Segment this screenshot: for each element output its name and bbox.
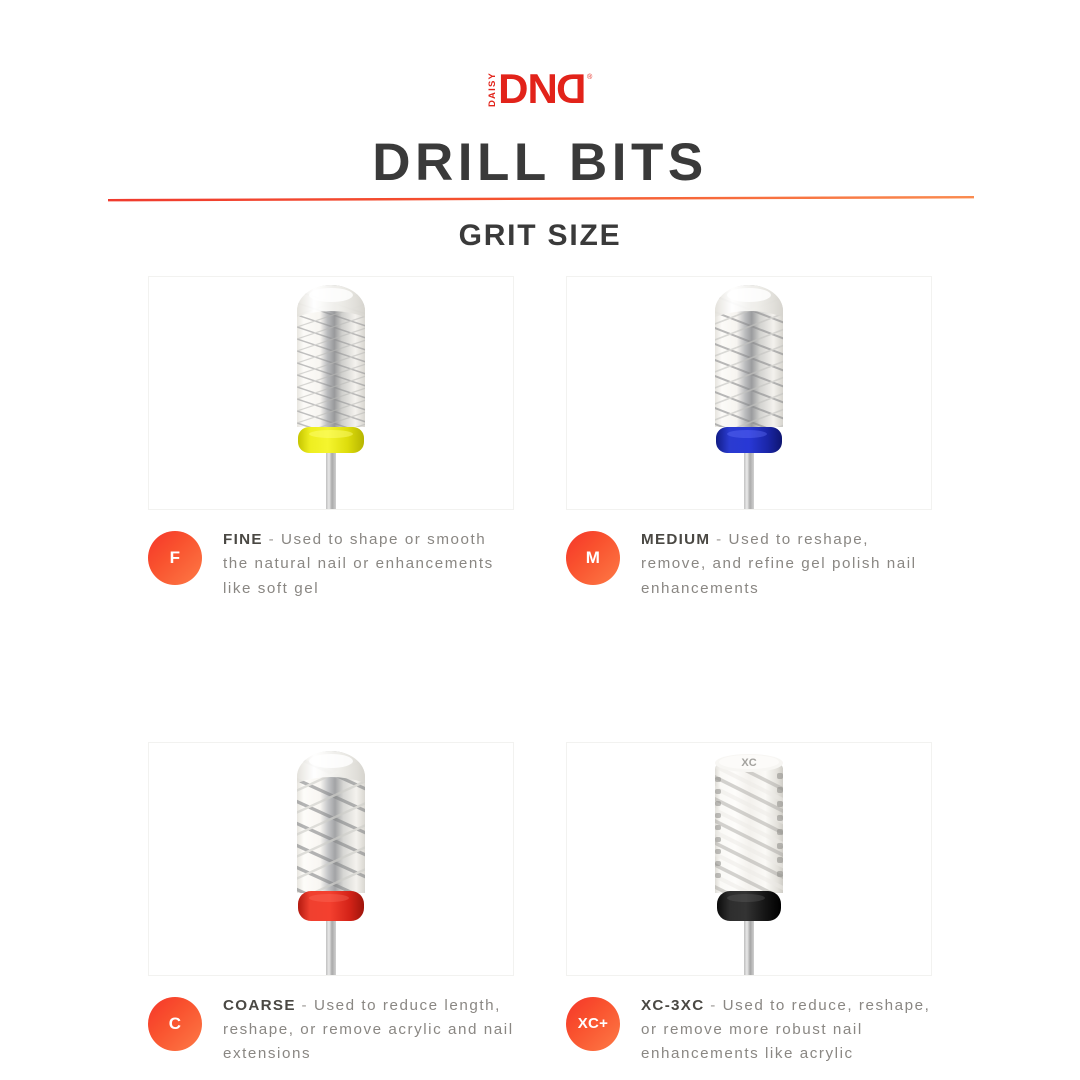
card-coarse: C COARSE - Used to reduce length, reshap… bbox=[148, 742, 514, 1067]
badge-coarse: C bbox=[148, 997, 202, 1051]
gradient-divider bbox=[108, 196, 974, 203]
coarse-drill-bit-illustration bbox=[271, 743, 391, 976]
description-fine: FINE - Used to shape or smooth the natur… bbox=[223, 528, 514, 601]
coarse-drill-bit-photo bbox=[148, 742, 514, 976]
separator-medium: - bbox=[710, 531, 728, 548]
badge-xc: XC+ bbox=[566, 997, 620, 1051]
separator-xc: - bbox=[705, 997, 723, 1014]
label-coarse: COARSE bbox=[223, 997, 296, 1014]
separator-coarse: - bbox=[296, 997, 314, 1014]
infographic-page: DAISY D N D ® DRILL BITS GRIT SIZE bbox=[0, 0, 1080, 1080]
card-medium: M MEDIUM - Used to reshape, remove, and … bbox=[566, 276, 932, 601]
description-coarse: COARSE - Used to reduce length, reshape,… bbox=[223, 994, 514, 1067]
logo-daisy-text: DAISY bbox=[488, 72, 498, 106]
xc-drill-bit-photo: XC bbox=[566, 742, 932, 976]
registered-trademark-icon: ® bbox=[587, 74, 592, 81]
section-subtitle: GRIT SIZE bbox=[0, 218, 1080, 254]
label-xc: XC-3XC bbox=[641, 997, 705, 1014]
logo-letter-d2: D bbox=[557, 72, 586, 106]
brand-logo: DAISY D N D ® bbox=[0, 66, 1080, 106]
logo-letter-d1: D bbox=[498, 72, 527, 106]
label-medium: MEDIUM bbox=[641, 531, 710, 548]
xc-top-label: XC bbox=[741, 757, 756, 769]
fine-drill-bit-photo bbox=[148, 276, 514, 510]
description-xc: XC-3XC - Used to reduce, reshape, or rem… bbox=[641, 994, 932, 1067]
card-fine: F FINE - Used to shape or smooth the nat… bbox=[148, 276, 514, 601]
page-title: DRILL BITS bbox=[0, 136, 1080, 189]
separator-fine: - bbox=[263, 531, 281, 548]
caption-medium: M MEDIUM - Used to reshape, remove, and … bbox=[566, 528, 932, 601]
logo-dnd-wordmark: D N D ® bbox=[498, 72, 592, 106]
caption-fine: F FINE - Used to shape or smooth the nat… bbox=[148, 528, 514, 601]
logo-letter-n: N bbox=[527, 72, 556, 106]
card-xc: XC XC+ XC-3XC - Used to reduce, reshape,… bbox=[566, 742, 932, 1067]
description-medium: MEDIUM - Used to reshape, remove, and re… bbox=[641, 528, 932, 601]
medium-drill-bit-photo bbox=[566, 276, 932, 510]
badge-fine: F bbox=[148, 531, 202, 585]
label-fine: FINE bbox=[223, 531, 263, 548]
medium-drill-bit-illustration bbox=[689, 277, 809, 510]
drill-bit-grid: F FINE - Used to shape or smooth the nat… bbox=[148, 276, 932, 1067]
caption-xc: XC+ XC-3XC - Used to reduce, reshape, or… bbox=[566, 994, 932, 1067]
badge-medium: M bbox=[566, 531, 620, 585]
fine-drill-bit-illustration bbox=[271, 277, 391, 510]
xc-drill-bit-illustration: XC bbox=[689, 743, 809, 976]
caption-coarse: C COARSE - Used to reduce length, reshap… bbox=[148, 994, 514, 1067]
